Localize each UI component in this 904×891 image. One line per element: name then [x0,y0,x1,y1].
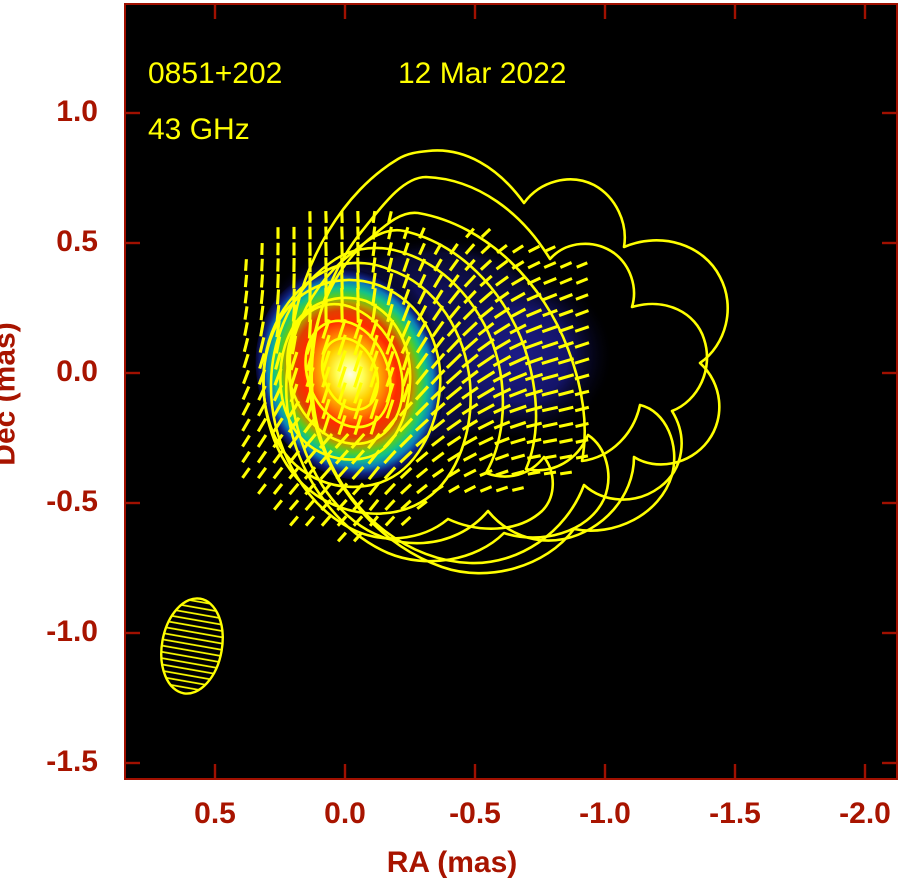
y-tick-label-5: -1.5 [6,745,98,779]
observation-date-label: 12 Mar 2022 [398,57,566,90]
x-tick-label-4: -1.5 [689,797,781,831]
y-axis-title: Dec (mas) [0,322,23,465]
x-tick-label-2: -0.5 [429,797,521,831]
y-tick-label-3: -0.5 [6,485,98,519]
frequency-label: 43 GHz [148,113,250,146]
x-tick-label-0: 0.5 [169,797,261,831]
x-axis-title: RA (mas) [0,846,904,880]
x-tick-label-1: 0.0 [299,797,391,831]
y-tick-label-1: 0.5 [6,225,98,259]
radio-map-canvas: 0851+202 12 Mar 2022 43 GHz [126,5,896,778]
figure-root: 0851+202 12 Mar 2022 43 GHz 1.0 0.5 0.0 … [0,0,904,891]
x-tick-label-3: -1.0 [559,797,651,831]
y-tick-label-0: 1.0 [6,95,98,129]
x-tick-label-5: -2.0 [819,797,904,831]
plot-frame: 0851+202 12 Mar 2022 43 GHz [124,3,898,780]
source-name-label: 0851+202 [148,57,282,90]
y-tick-label-4: -1.0 [6,615,98,649]
